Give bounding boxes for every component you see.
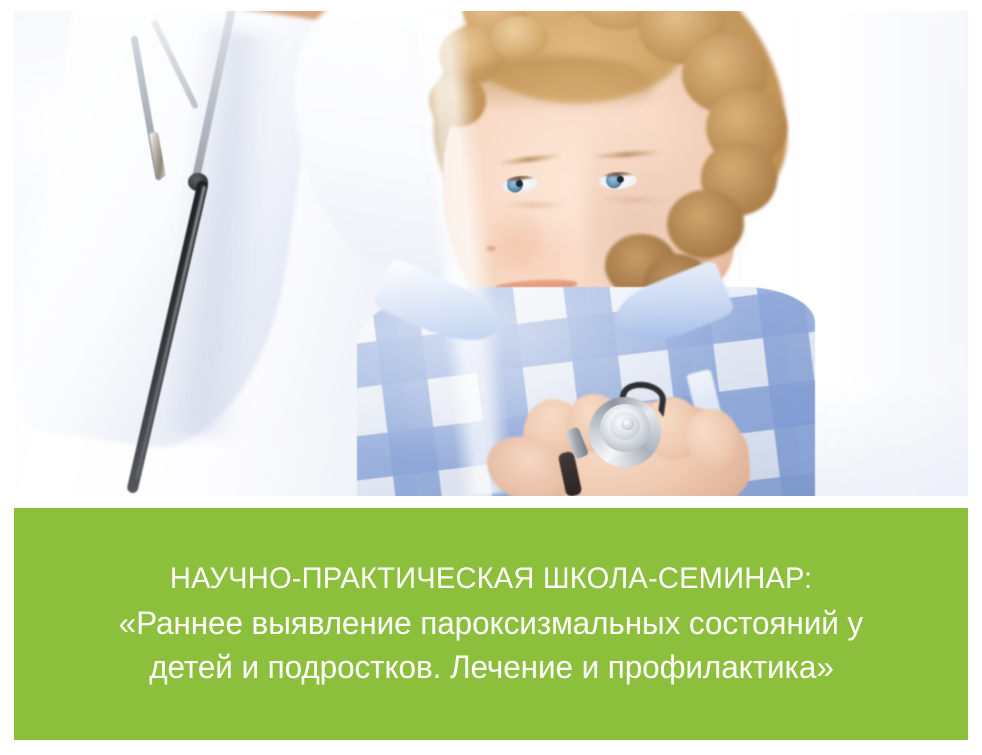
announcement-slide: НАУЧНО-ПРАКТИЧЕСКАЯ ШКОЛА-СЕМИНАР: «Ранн… [0,0,982,755]
hair-curl [667,190,743,258]
event-photo [14,11,968,496]
pupil [617,176,624,183]
pupil [516,180,524,188]
caption-line-3: детей и подростков. Лечение и профилакти… [149,649,834,686]
caption-banner: НАУЧНО-ПРАКТИЧЕСКАЯ ШКОЛА-СЕМИНАР: «Ранн… [14,508,968,740]
caption-line-2: «Раннее выявление пароксизмальных состоя… [119,605,863,642]
boy-hairline [462,55,653,113]
caption-line-1: НАУЧНО-ПРАКТИЧЕСКАЯ ШКОЛА-СЕМИНАР: [170,562,812,596]
